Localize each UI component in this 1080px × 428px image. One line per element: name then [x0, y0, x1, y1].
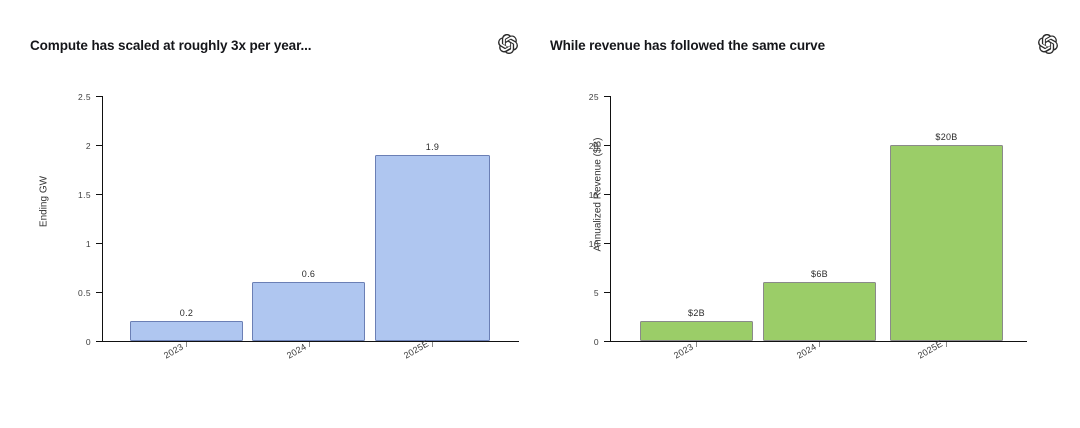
- chart-panel-revenue: While revenue has followed the same curv…: [540, 0, 1080, 428]
- y-axis-line: [610, 96, 611, 341]
- y-tick-1: 5: [604, 292, 610, 293]
- slide-canvas: Compute has scaled at roughly 3x per yea…: [0, 0, 1080, 428]
- y-tick-label: 20: [589, 141, 599, 151]
- bar-value-label: $6B: [811, 269, 828, 279]
- x-axis-label-2024: 2024: [795, 342, 818, 361]
- y-tick-label: 0.5: [78, 288, 91, 298]
- bar-value-label: 0.6: [302, 269, 315, 279]
- x-axis-label-2023: 2023: [672, 342, 695, 361]
- y-tick-label: 2.5: [78, 92, 91, 102]
- plot-area-revenue: 0 5 10 15 20 25 $2B $6B: [610, 96, 1026, 341]
- y-tick-label: 1: [86, 239, 91, 249]
- y-tick-label: 0: [594, 337, 599, 347]
- y-tick-4: 2: [96, 145, 102, 146]
- y-tick-2: 1: [96, 243, 102, 244]
- x-tick-2024: [819, 342, 820, 347]
- x-axis-label-2023: 2023: [162, 342, 185, 361]
- panel-title-revenue: While revenue has followed the same curv…: [550, 38, 825, 53]
- y-tick-3: 1.5: [96, 194, 102, 195]
- y-tick-2: 10: [604, 243, 610, 244]
- bar-compute-2023[interactable]: 0.2: [130, 321, 243, 341]
- y-tick-5: 25: [604, 96, 610, 97]
- x-tick-2024: [309, 342, 310, 347]
- bar-revenue-2024[interactable]: $6B: [763, 282, 876, 341]
- y-tick-1: 0.5: [96, 292, 102, 293]
- x-tick-2023: [696, 342, 697, 347]
- y-tick-0: 0: [604, 341, 610, 342]
- x-axis-line: [102, 341, 519, 342]
- y-tick-label: 15: [589, 190, 599, 200]
- y-axis-title-compute: Ending GW: [39, 172, 50, 232]
- y-tick-0: 0: [96, 341, 102, 342]
- bar-compute-2025e[interactable]: 1.9: [375, 155, 490, 341]
- x-axis-label-2024: 2024: [285, 342, 308, 361]
- y-tick-label: 25: [589, 92, 599, 102]
- y-axis-line: [102, 96, 103, 341]
- plot-area-compute: 0 0.5 1 1.5 2 2.5 0.2 0.6: [102, 96, 518, 341]
- y-tick-4: 20: [604, 145, 610, 146]
- y-tick-label: 10: [589, 239, 599, 249]
- bar-value-label: 1.9: [426, 142, 439, 152]
- bar-value-label: 0.2: [180, 308, 193, 318]
- x-tick-2025e: [432, 342, 433, 347]
- bar-revenue-2025e[interactable]: $20B: [890, 145, 1003, 341]
- chart-panel-compute: Compute has scaled at roughly 3x per yea…: [0, 0, 540, 428]
- y-tick-label: 1.5: [78, 190, 91, 200]
- y-tick-label: 5: [594, 288, 599, 298]
- bar-value-label: $2B: [688, 308, 705, 318]
- bar-revenue-2023[interactable]: $2B: [640, 321, 753, 341]
- bar-value-label: $20B: [935, 132, 957, 142]
- panel-title-compute: Compute has scaled at roughly 3x per yea…: [30, 38, 311, 53]
- openai-logo: [498, 34, 518, 54]
- y-tick-5: 2.5: [96, 96, 102, 97]
- y-tick-label: 0: [86, 337, 91, 347]
- y-tick-label: 2: [86, 141, 91, 151]
- x-tick-2023: [186, 342, 187, 347]
- bar-compute-2024[interactable]: 0.6: [252, 282, 365, 341]
- x-tick-2025e: [946, 342, 947, 347]
- openai-logo: [1038, 34, 1058, 54]
- y-tick-3: 15: [604, 194, 610, 195]
